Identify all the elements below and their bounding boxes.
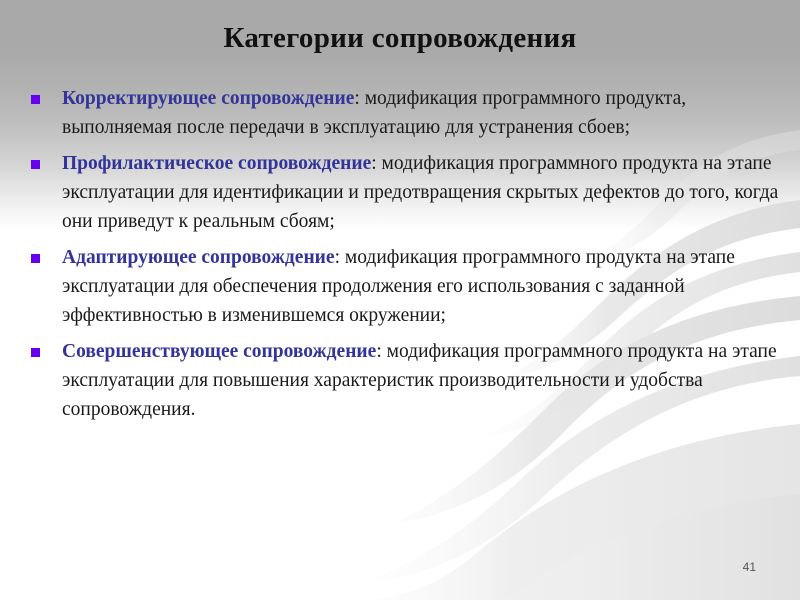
page-title: Категории сопровождения <box>0 22 800 55</box>
list-item-text: Корректирующее сопровождение: модификаци… <box>62 84 788 142</box>
bullet-list: Корректирующее сопровождение: модификаци… <box>0 84 800 431</box>
list-item-text: Профилактическое сопровождение: модифика… <box>62 149 788 236</box>
list-item-text: Адаптирующее сопровождение: модификация … <box>62 243 788 330</box>
list-item-term: Профилактическое сопровождение <box>62 153 371 174</box>
page-number: 41 <box>743 560 756 574</box>
slide-canvas: Категории сопровождения Корректирующее с… <box>0 0 800 600</box>
list-item-term: Адаптирующее сопровождение <box>62 247 335 268</box>
list-item: Профилактическое сопровождение: модифика… <box>0 149 800 236</box>
list-item: Корректирующее сопровождение: модификаци… <box>0 84 800 142</box>
list-item: Совершенствующее сопровождение: модифика… <box>0 337 800 424</box>
ribbon-band-lower <box>360 424 800 600</box>
bullet-square-icon <box>31 254 40 263</box>
list-item-term: Корректирующее сопровождение <box>62 88 354 109</box>
list-item-term: Совершенствующее сопровождение <box>62 341 376 362</box>
list-item-text: Совершенствующее сопровождение: модифика… <box>62 337 788 424</box>
bullet-square-icon <box>31 95 40 104</box>
bullet-square-icon <box>31 160 40 169</box>
bullet-square-icon <box>31 348 40 357</box>
list-item: Адаптирующее сопровождение: модификация … <box>0 243 800 330</box>
